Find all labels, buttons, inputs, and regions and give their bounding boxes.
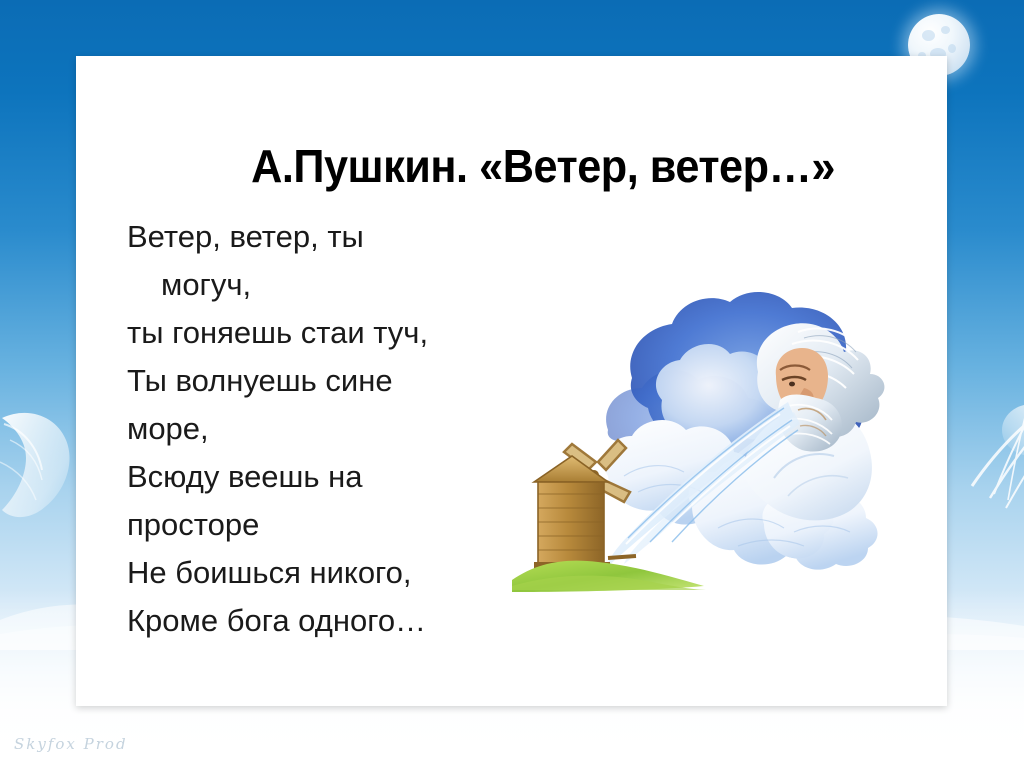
watermark: Skyfox Prod	[14, 735, 128, 753]
poem-line: ты гоняешь стаи туч,	[127, 309, 507, 357]
poem-line: Всюду веешь на	[127, 453, 507, 501]
poem-line: просторе	[127, 501, 507, 549]
slide-canvas: А.Пушкин. «Ветер, ветер…» Ветер, ветер, …	[0, 0, 1024, 767]
poem-text-block: Ветер, ветер, ты могуч, ты гоняешь стаи …	[127, 213, 507, 645]
content-card: А.Пушкин. «Ветер, ветер…» Ветер, ветер, …	[76, 56, 947, 706]
wind-illustration-graphic	[512, 280, 897, 594]
moon-crater	[941, 26, 950, 34]
poem-line: Не боишься никого,	[127, 549, 507, 597]
poem-line: могуч,	[127, 261, 507, 309]
page-title: А.Пушкин. «Ветер, ветер…»	[172, 139, 915, 193]
poem-line: море,	[127, 405, 507, 453]
poem-line: Кроме бога одного…	[127, 597, 507, 645]
poem-line: Ты волнуешь сине	[127, 357, 507, 405]
moon-crater	[948, 44, 956, 53]
wind-illustration	[512, 280, 897, 594]
poem-line: Ветер, ветер, ты	[127, 213, 507, 261]
moon-crater	[922, 30, 935, 41]
